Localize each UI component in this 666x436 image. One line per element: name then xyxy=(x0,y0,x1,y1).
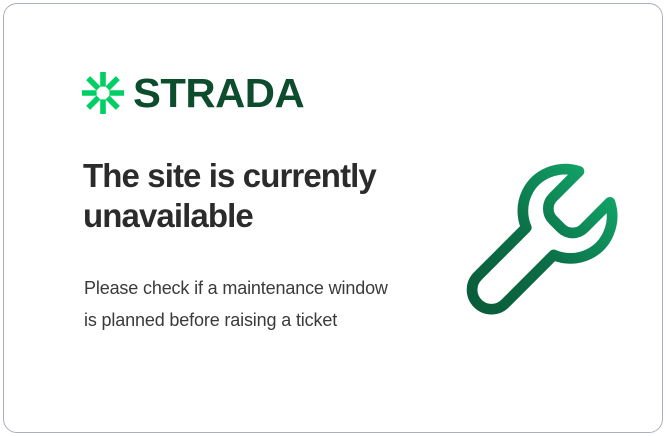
page-title: The site is currently unavailable xyxy=(83,156,423,237)
status-card: STRADA The site is currently unavailable… xyxy=(3,3,663,433)
error-page-screen: STRADA The site is currently unavailable… xyxy=(0,0,666,436)
page-description: Please check if a maintenance window is … xyxy=(84,272,394,336)
brand-wordmark: STRADA xyxy=(133,73,304,114)
strada-asterisk-icon xyxy=(82,72,124,114)
wrench-icon xyxy=(456,154,621,319)
brand-lockup: STRADA xyxy=(82,72,301,114)
